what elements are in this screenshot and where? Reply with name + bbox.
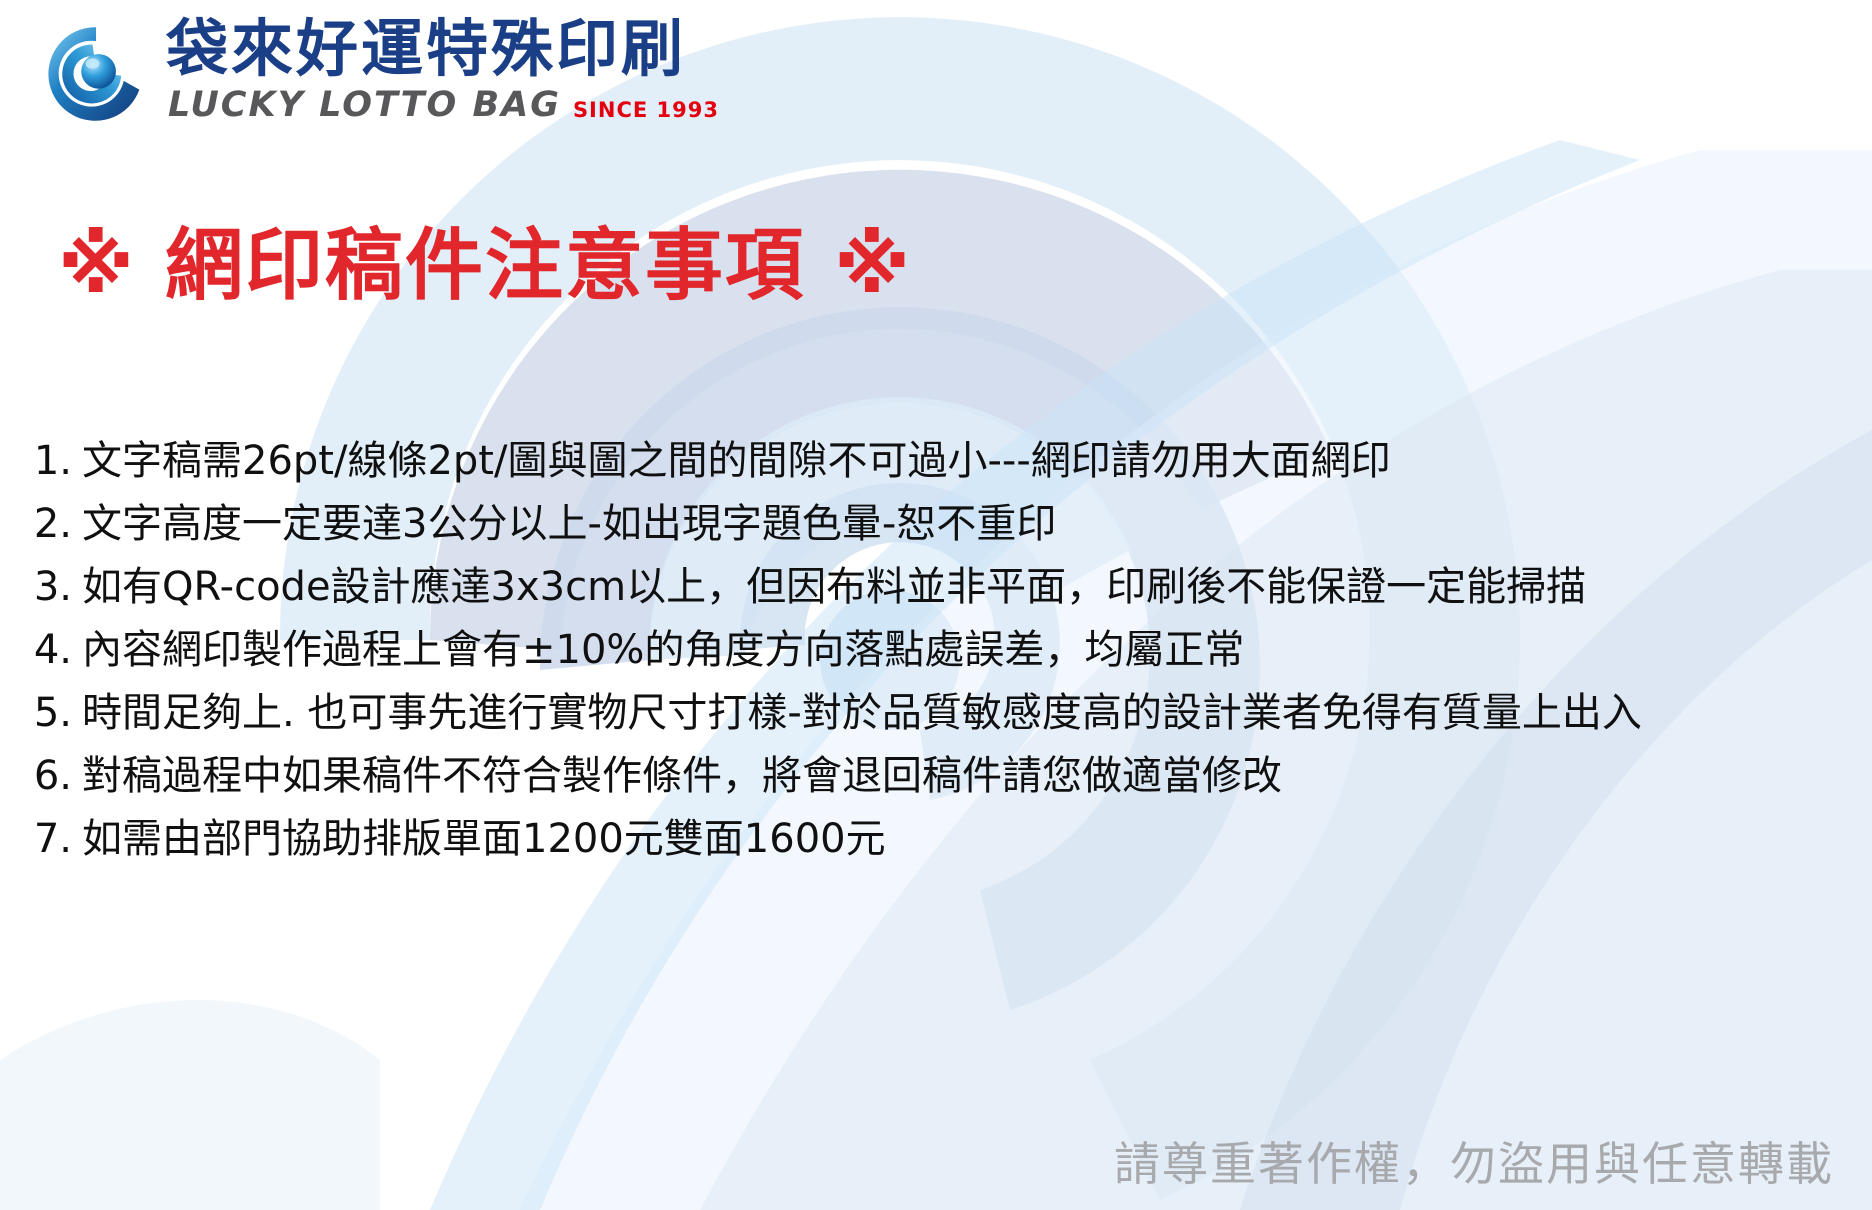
list-item-text: 文字稿需26pt/線條2pt/圖與圖之間的間隙不可過小---網印請勿用大面網印 (82, 428, 1391, 486)
list-item-index: 7. (26, 816, 72, 862)
brand-text-block: 袋來好運特殊印刷 LUCKY LOTTO BAG SINCE 1993 (166, 16, 719, 125)
list-item: 5. 時間足夠上. 也可事先進行實物尺寸打樣-對於品質敏感度高的設計業者免得有質… (26, 680, 1856, 743)
list-item: 2. 文字高度一定要達3公分以上-如出現字題色暈-恕不重印 (26, 491, 1856, 554)
spiral-swirl-icon (44, 22, 148, 126)
list-item-index: 2. (26, 501, 72, 547)
list-item: 7. 如需由部門協助排版單面1200元雙面1600元 (26, 806, 1856, 869)
list-item: 3. 如有QR-code設計應達3x3cm以上，但因布料並非平面，印刷後不能保證… (26, 554, 1856, 617)
list-item-text: 如需由部門協助排版單面1200元雙面1600元 (82, 806, 886, 864)
brand-since-label: SINCE 1993 (573, 98, 719, 122)
list-item-text: 內容網印製作過程上會有±10%的角度方向落點處誤差，均屬正常 (82, 617, 1244, 675)
brand-name-cn: 袋來好運特殊印刷 (166, 16, 719, 81)
list-item-text: 對稿過程中如果稿件不符合製作條件，將會退回稿件請您做適當修改 (82, 743, 1282, 801)
list-item-index: 1. (26, 438, 72, 484)
list-item: 1. 文字稿需26pt/線條2pt/圖與圖之間的間隙不可過小---網印請勿用大面… (26, 428, 1856, 491)
brand-en-row: LUCKY LOTTO BAG SINCE 1993 (168, 85, 719, 125)
notes-list: 1. 文字稿需26pt/線條2pt/圖與圖之間的間隙不可過小---網印請勿用大面… (26, 428, 1856, 869)
list-item-text: 文字高度一定要達3公分以上-如出現字題色暈-恕不重印 (82, 491, 1056, 549)
list-item: 6. 對稿過程中如果稿件不符合製作條件，將會退回稿件請您做適當修改 (26, 743, 1856, 806)
list-item-index: 6. (26, 753, 72, 799)
list-item-text: 如有QR-code設計應達3x3cm以上，但因布料並非平面，印刷後不能保證一定能… (82, 554, 1586, 612)
list-item-index: 3. (26, 564, 72, 610)
list-item: 4. 內容網印製作過程上會有±10%的角度方向落點處誤差，均屬正常 (26, 617, 1856, 680)
list-item-index: 4. (26, 627, 72, 673)
brand-name-en: LUCKY LOTTO BAG (168, 85, 561, 125)
poster-page: 袋來好運特殊印刷 LUCKY LOTTO BAG SINCE 1993 ※ 網印… (0, 0, 1872, 1210)
brand-header: 袋來好運特殊印刷 LUCKY LOTTO BAG SINCE 1993 (44, 16, 719, 126)
list-item-text: 時間足夠上. 也可事先進行實物尺寸打樣-對於品質敏感度高的設計業者免得有質量上出… (82, 680, 1642, 738)
list-item-index: 5. (26, 690, 72, 736)
copyright-notice: 請尊重著作權，勿盜用與任意轉載 (1114, 1128, 1834, 1194)
page-title: ※ 網印稿件注意事項 ※ (58, 203, 912, 315)
